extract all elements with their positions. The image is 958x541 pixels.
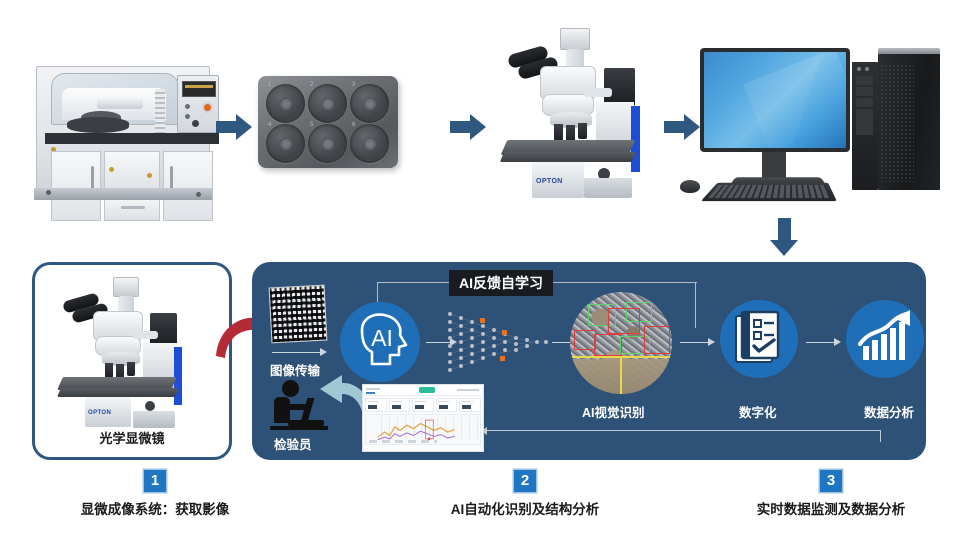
image-strip: [269, 285, 328, 344]
step-badge-1: 1: [144, 470, 166, 492]
arrow-image-transfer: [272, 348, 328, 357]
pc-tower: [852, 54, 940, 190]
arrow-microscope-to-computer: [664, 114, 702, 140]
microscope-brand-top: OPTON: [536, 178, 563, 185]
keyboard: [701, 183, 837, 201]
well-label-4: 4: [268, 122, 271, 128]
step-badge-2: 2: [514, 470, 536, 492]
return-line-right: [880, 430, 881, 442]
data-analysis-circle: [846, 300, 924, 378]
workstation-computer-image: [700, 30, 940, 210]
inspector-label: 检验员: [274, 434, 312, 453]
arrow-computer-to-panel: [770, 218, 798, 258]
ai-process-panel: AI反馈自学习 图像传输 AI: [252, 262, 926, 460]
optical-microscope-card: OPTON 光学显微镜: [32, 262, 232, 460]
growth-chart-icon: [846, 300, 924, 378]
well-label-3: 3: [352, 82, 355, 88]
microstructure-image: [570, 292, 672, 394]
step-caption-2: AI自动化识别及结构分析: [405, 498, 645, 518]
step-caption-3: 实时数据监测及数据分析: [711, 498, 951, 518]
ai-head-icon: AI: [340, 302, 420, 382]
step-caption-1: 显微成像系统：获取影像: [35, 498, 275, 518]
digitization-label: 数字化: [739, 402, 777, 421]
microscope-top-image: OPTON: [500, 28, 670, 208]
workflow-diagram: 1 2 3 4 5 6 O: [0, 0, 958, 541]
mouse-icon: [680, 180, 700, 193]
step-badge-3: 3: [820, 470, 842, 492]
well-label-2: 2: [310, 82, 313, 88]
well-label-1: 1: [268, 82, 271, 88]
arrow-machine-to-tray: [216, 114, 254, 140]
data-analysis-label: 数据分析: [864, 402, 914, 421]
return-line-bottom: [487, 430, 881, 431]
polishing-machine-image: [28, 28, 218, 208]
optical-microscope-label: 光学显微镜: [35, 428, 229, 447]
feedback-line-right: [597, 282, 697, 283]
arrow-digitization-to-analysis: [806, 338, 842, 347]
digitization-circle: [720, 300, 798, 378]
ai-brain-circle: AI: [340, 302, 420, 382]
svg-text:AI: AI: [371, 325, 393, 351]
neural-network-graphic: [442, 308, 550, 378]
microscope-brand-card: OPTON: [88, 410, 111, 416]
well-label-5: 5: [310, 122, 313, 128]
checklist-icon: [720, 300, 798, 378]
arrow-tray-to-microscope: [450, 114, 488, 140]
vision-recognition-label: AI视觉识别: [582, 402, 645, 421]
dashboard-screenshot: [362, 384, 484, 452]
monitor: [700, 48, 850, 152]
feedback-label: AI反馈自学习: [449, 270, 553, 296]
well-label-6: 6: [352, 122, 355, 128]
sample-tray-image: 1 2 3 4 5 6: [258, 76, 398, 168]
feedback-line-down-right: [695, 282, 696, 328]
arrow-vision-to-digitization: [680, 338, 716, 347]
